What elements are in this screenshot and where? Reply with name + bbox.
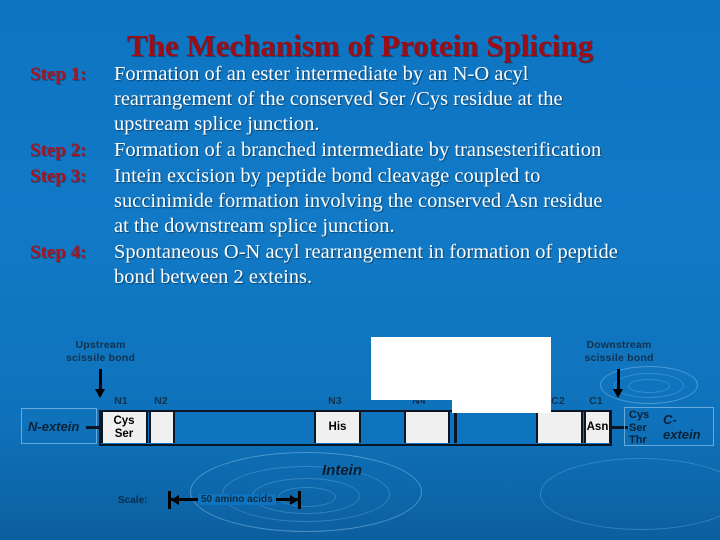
scale-right-cap: [298, 491, 301, 509]
step-text: Formation of an ester intermediate by an…: [114, 62, 720, 137]
slide-canvas: The Mechanism of Protein Splicing Step 1…: [0, 0, 720, 540]
step-text: Spontaneous O-N acyl rearrangement in fo…: [114, 240, 720, 290]
list-item: Step 1: Formation of an ester intermedia…: [30, 62, 720, 137]
list-item: Step 2: Formation of a branched intermed…: [30, 138, 720, 163]
scale-arrow-left-icon: [171, 495, 179, 505]
scale-prefix-label: Scale:: [118, 495, 147, 506]
step-text: Formation of a branched intermediate by …: [114, 138, 720, 163]
step-text: Intein excision by peptide bond cleavage…: [114, 164, 720, 239]
step-text-line: Formation of a branched intermediate by …: [114, 138, 720, 163]
page-title: The Mechanism of Protein Splicing: [0, 28, 720, 64]
step-text-line: upstream splice junction.: [114, 112, 720, 137]
step-text-line: Formation of an ester intermediate by an…: [114, 62, 720, 87]
steps-list: Step 1: Formation of an ester intermedia…: [30, 62, 720, 291]
step-label: Step 3:: [30, 164, 114, 189]
step-text-line: Intein excision by peptide bond cleavage…: [114, 164, 720, 189]
scale-bar: Scale: 50 amino acids: [0, 325, 720, 540]
step-text-line: succinimide formation involving the cons…: [114, 189, 720, 214]
list-item: Step 3: Intein excision by peptide bond …: [30, 164, 720, 239]
step-text-line: at the downstream splice junction.: [114, 214, 720, 239]
step-label: Step 2:: [30, 138, 114, 163]
step-text-line: rearrangement of the conserved Ser /Cys …: [114, 87, 720, 112]
list-item: Step 4: Spontaneous O-N acyl rearrangeme…: [30, 240, 720, 290]
step-text-line: Spontaneous O-N acyl rearrangement in fo…: [114, 240, 720, 265]
step-text-line: bond between 2 exteins.: [114, 265, 720, 290]
intein-domain-diagram: Upstream scissile bond Downstream scissi…: [0, 325, 720, 540]
scale-value-label: 50 amino acids: [198, 494, 276, 505]
step-label: Step 1:: [30, 62, 114, 87]
scale-arrow-right-icon: [290, 495, 298, 505]
step-label: Step 4:: [30, 240, 114, 265]
